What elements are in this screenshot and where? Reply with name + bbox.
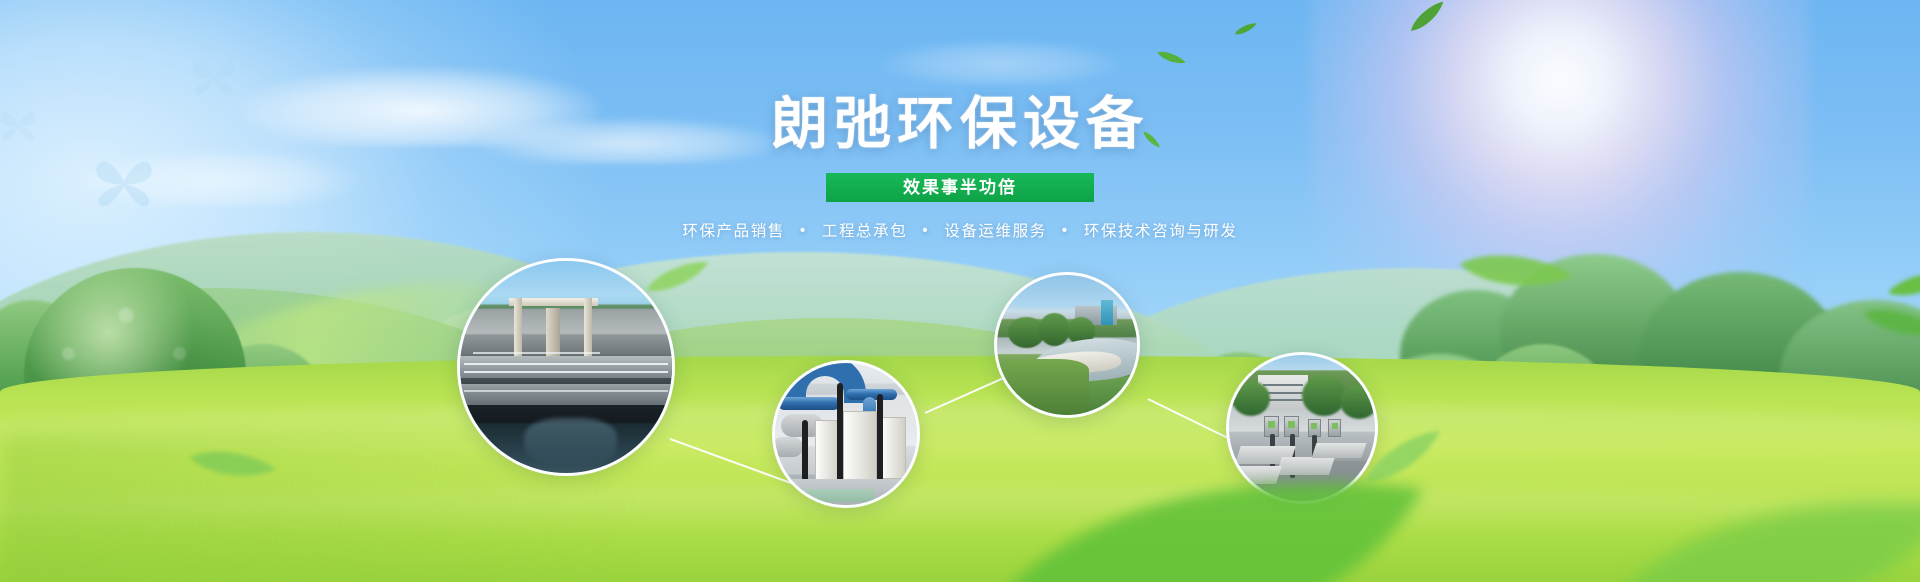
tank: [772, 437, 803, 457]
photo-blower-equipment-room: [775, 363, 917, 505]
cloud: [480, 118, 780, 164]
water-tower: [1101, 300, 1114, 325]
blue-pipe: [778, 397, 840, 410]
butterfly-icon: [186, 52, 242, 97]
eco-equipment-hero-banner: 朗弛环保设备 效果事半功倍 环保产品销售 • 工程总承包 • 设备运维服务 • …: [0, 0, 1920, 582]
meadow-shadow: [0, 432, 883, 582]
lawn: [994, 359, 1089, 415]
cabinet: [815, 420, 841, 485]
butterfly-icon: [0, 104, 42, 142]
photo-circle-sedimentation-basin[interactable]: [994, 272, 1140, 418]
photo-circle-blower-equipment-room[interactable]: [772, 360, 920, 508]
cabinet: [880, 417, 906, 479]
photo-wastewater-treatment-plant: [460, 261, 672, 473]
cloud: [880, 40, 1120, 84]
cabinet: [843, 411, 877, 485]
foreground-leaf-icon: [960, 470, 1430, 582]
butterfly-icon: [86, 148, 162, 209]
foreground-leaf-icon: [1600, 498, 1920, 582]
photo-sedimentation-basin: [997, 275, 1137, 415]
photo-circle-wastewater-treatment-plant[interactable]: [457, 258, 675, 476]
